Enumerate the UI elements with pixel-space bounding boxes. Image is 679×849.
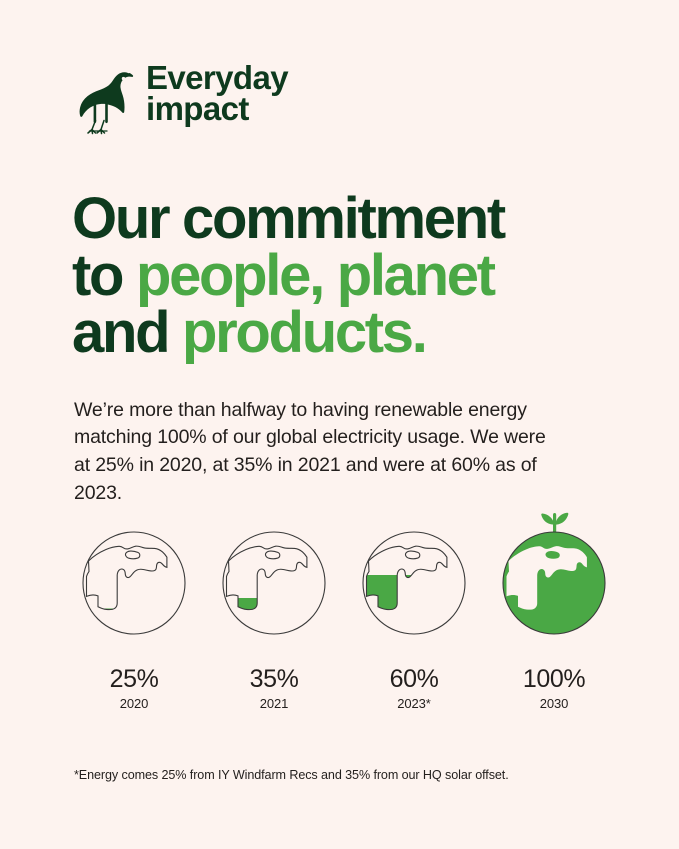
globe-fill bbox=[214, 598, 334, 653]
brand-wordmark: Everyday impact bbox=[146, 62, 288, 125]
globe-year: 2021 bbox=[260, 697, 289, 710]
globe-fill bbox=[354, 575, 474, 653]
headline-line-3-green: products. bbox=[182, 300, 426, 365]
footnote: *Energy comes 25% from IY Windfarm Recs … bbox=[74, 768, 614, 782]
globe-year: 2023* bbox=[397, 697, 430, 710]
globe-icon bbox=[214, 505, 334, 653]
brand-line-2: impact bbox=[146, 93, 288, 124]
headline-line-3: and products. bbox=[72, 305, 632, 362]
headline-line-1: Our commitment bbox=[72, 191, 632, 248]
globe-icon bbox=[354, 505, 474, 653]
globe-sprout-icon bbox=[494, 505, 614, 653]
globe-item: 25% 2020 bbox=[74, 505, 194, 710]
brand-lockup: Everyday impact bbox=[76, 62, 288, 136]
globe-circle bbox=[83, 532, 185, 634]
globe-percent: 60% bbox=[390, 667, 439, 692]
globe-item: 60% 2023* bbox=[354, 505, 474, 710]
globe-fill bbox=[74, 609, 194, 654]
brand-line-1: Everyday bbox=[146, 62, 288, 93]
globe-item: 35% 2021 bbox=[214, 505, 334, 710]
globe-year: 2020 bbox=[120, 697, 149, 710]
headline-line-3-dark: and bbox=[72, 300, 182, 365]
progress-globes-row: 25% 2020 35% 2021 bbox=[74, 500, 614, 710]
globe-item: 100% 2030 bbox=[494, 505, 614, 710]
globe-icon bbox=[74, 505, 194, 653]
headline-line-1-dark: Our commitment bbox=[72, 186, 504, 251]
bird-icon bbox=[76, 64, 138, 136]
headline-line-2: to people, planet bbox=[72, 248, 632, 305]
body-paragraph: We’re more than halfway to having renewa… bbox=[74, 397, 556, 508]
infographic-page: Everyday impact Our commitment to people… bbox=[0, 0, 679, 849]
globe-percent: 25% bbox=[110, 667, 159, 692]
headline-line-2-green: people, planet bbox=[136, 243, 494, 308]
globe-percent: 100% bbox=[523, 667, 585, 692]
globe-year: 2030 bbox=[540, 697, 569, 710]
globe-percent: 35% bbox=[250, 667, 299, 692]
page-title: Our commitment to people, planet and pro… bbox=[72, 191, 632, 361]
headline-line-2-dark: to bbox=[72, 243, 136, 308]
globe-circle bbox=[223, 532, 325, 634]
globe-landmass-outline bbox=[87, 546, 167, 610]
